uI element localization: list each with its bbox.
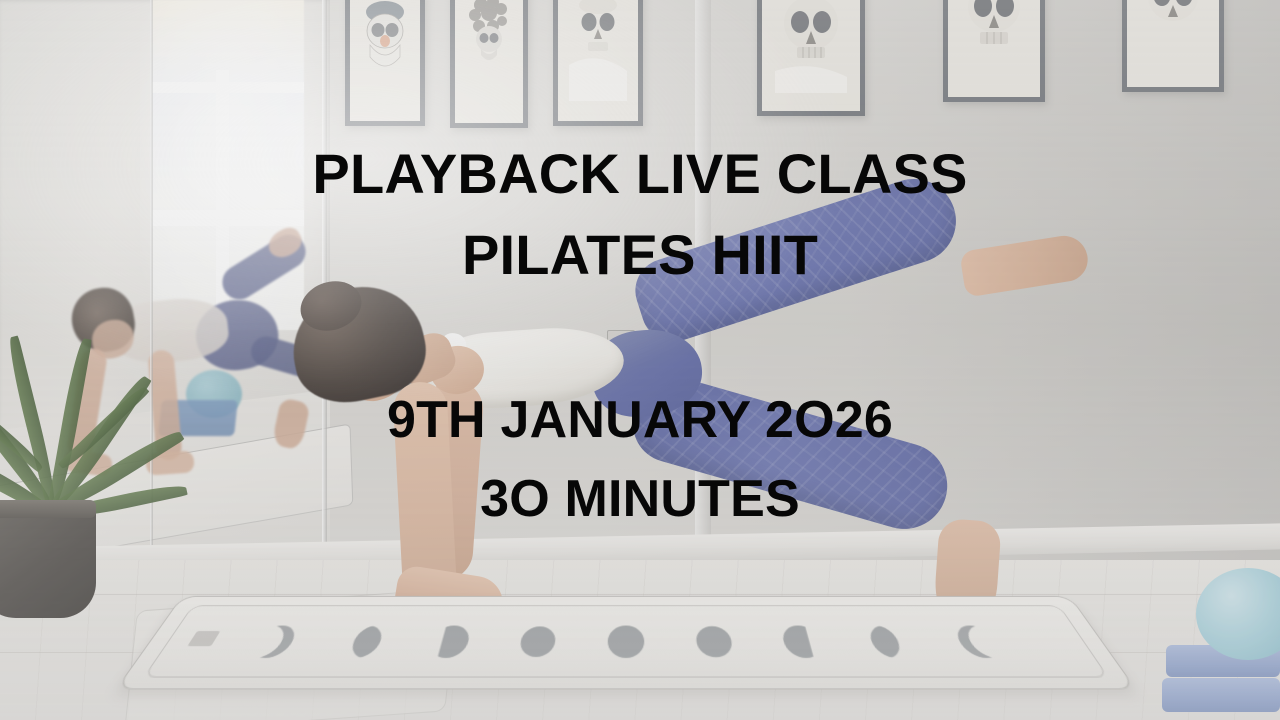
headline-line-1: PLAYBACK LIVE CLASS	[0, 146, 1280, 202]
headline-line-2: PILATES HIIT	[0, 227, 1280, 283]
title-overlay-text: PLAYBACK LIVE CLASS PILATES HIIT 9TH JAN…	[0, 0, 1280, 720]
class-date: 9TH JANUARY 2O26	[0, 394, 1280, 446]
class-duration: 3O MINUTES	[0, 473, 1280, 525]
video-thumbnail: PLAYBACK LIVE CLASS PILATES HIIT 9TH JAN…	[0, 0, 1280, 720]
